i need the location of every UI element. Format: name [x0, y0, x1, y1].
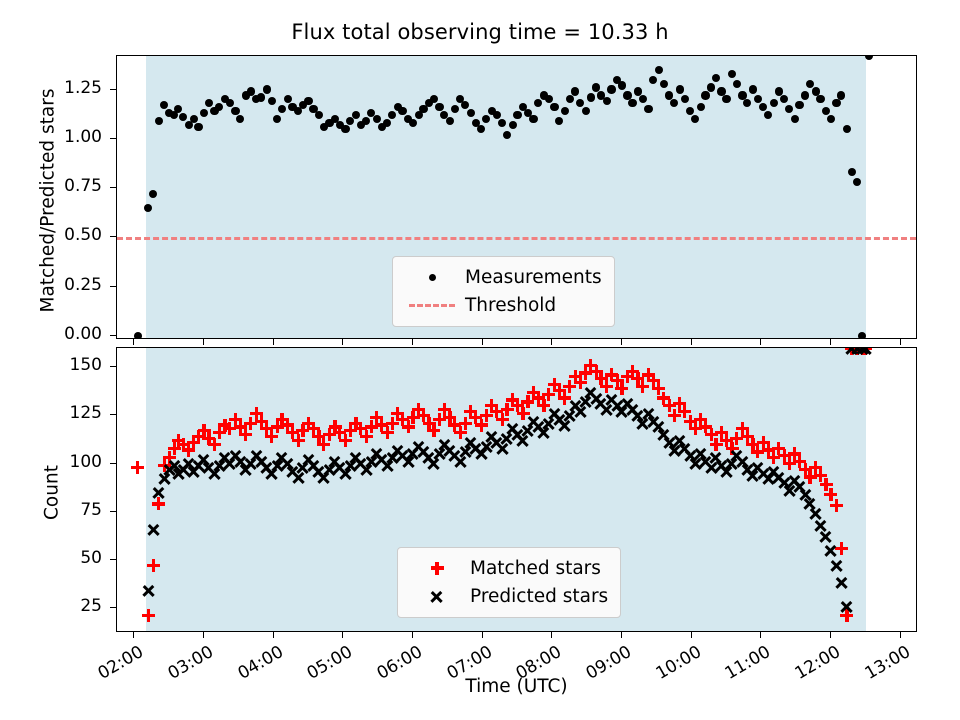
data-point [146, 522, 161, 537]
x-tick-mark [551, 339, 552, 345]
data-point [130, 460, 145, 475]
data-point [701, 91, 709, 99]
data-point [141, 608, 156, 623]
y-tick-label: 50 [42, 550, 102, 567]
x-tick-mark [203, 632, 204, 638]
data-point [503, 131, 511, 139]
y-tick-mark [110, 414, 116, 415]
data-point [194, 123, 202, 131]
legend-label-threshold: Threshold [459, 295, 556, 316]
data-point [707, 83, 715, 91]
y-tick-label: 0.75 [42, 178, 102, 195]
x-tick-mark [830, 632, 831, 638]
y-tick-mark [110, 366, 116, 367]
data-point [816, 95, 824, 103]
y-tick-label: 0.50 [42, 227, 102, 244]
y-tick-mark [110, 286, 116, 287]
data-point [839, 599, 854, 614]
y-tick-label: 0.25 [42, 277, 102, 294]
data-point [341, 125, 349, 133]
data-point [373, 115, 381, 123]
x-tick-mark [830, 339, 831, 345]
dashed-line-icon [405, 304, 459, 307]
data-point [806, 80, 814, 88]
y-tick-mark [110, 335, 116, 336]
y-tick-label: 150 [42, 357, 102, 374]
data-point [134, 332, 142, 339]
y-tick-mark [110, 89, 116, 90]
x-tick-mark [900, 632, 901, 638]
data-point [843, 125, 851, 133]
data-point [865, 55, 873, 60]
legend-label-matched: Matched stars [464, 558, 601, 579]
data-point [628, 99, 636, 107]
y-tick-label: 1.25 [42, 80, 102, 97]
top-panel-legend: Measurements Threshold [392, 256, 615, 327]
x-tick-mark [691, 632, 692, 638]
x-tick-mark [621, 632, 622, 638]
data-point [712, 74, 720, 82]
figure: Flux total observing time = 10.33 h Matc… [0, 0, 960, 720]
data-point [571, 87, 579, 95]
x-tick-mark [760, 339, 761, 345]
data-point [801, 91, 809, 99]
x-tick-mark [412, 632, 413, 638]
x-tick-mark [273, 632, 274, 638]
data-point [722, 95, 730, 103]
y-tick-label: 100 [42, 454, 102, 471]
data-point [146, 558, 161, 573]
data-point [823, 543, 838, 558]
x-tick-mark [482, 632, 483, 638]
data-point [676, 85, 684, 93]
x-tick-mark [412, 339, 413, 345]
figure-title: Flux total observing time = 10.33 h [0, 20, 960, 44]
legend-label-measurements: Measurements [459, 267, 602, 288]
data-point [513, 111, 521, 119]
data-point [190, 115, 198, 123]
data-point [493, 111, 501, 119]
plus-marker-icon [410, 561, 464, 576]
dot-marker-icon [405, 274, 459, 281]
x-tick-mark [342, 339, 343, 345]
data-point [607, 85, 615, 93]
data-point [155, 117, 163, 125]
y-tick-mark [110, 607, 116, 608]
y-tick-mark [110, 236, 116, 237]
data-point [398, 107, 406, 115]
x-tick-mark [482, 339, 483, 345]
x-tick-mark [551, 632, 552, 638]
x-tick-mark [900, 339, 901, 345]
threshold-line [117, 237, 916, 240]
data-point [660, 80, 668, 88]
data-point [257, 93, 265, 101]
data-point [728, 70, 736, 78]
y-tick-label: 1.00 [42, 129, 102, 146]
data-point [587, 93, 595, 101]
y-tick-label: 125 [42, 405, 102, 422]
legend-item-threshold: Threshold [405, 291, 602, 319]
data-point [858, 347, 873, 356]
y-tick-label: 0.00 [42, 326, 102, 343]
legend-item-predicted: Predicted stars [410, 582, 608, 610]
data-point [529, 115, 537, 123]
bottom-panel-legend: Matched stars Predicted stars [397, 547, 621, 618]
y-tick-mark [110, 187, 116, 188]
data-point [655, 66, 663, 74]
data-point [550, 103, 558, 111]
x-tick-mark [133, 632, 134, 638]
data-point [749, 85, 757, 93]
legend-label-predicted: Predicted stars [464, 586, 608, 607]
x-tick-mark [760, 632, 761, 638]
data-point [832, 99, 840, 107]
data-point [618, 81, 626, 89]
bottom-panel-ylabel: Count [42, 433, 63, 553]
x-tick-mark [342, 632, 343, 638]
data-point [644, 105, 652, 113]
cross-marker-icon [410, 589, 464, 604]
y-tick-label: 25 [42, 598, 102, 615]
x-tick-mark [133, 339, 134, 345]
data-point [858, 332, 866, 339]
x-tick-mark [621, 339, 622, 345]
legend-item-measurements: Measurements [405, 263, 602, 291]
data-point [263, 85, 271, 93]
y-tick-mark [110, 559, 116, 560]
data-point [829, 558, 844, 573]
y-tick-mark [110, 138, 116, 139]
data-point [795, 101, 803, 109]
data-point [733, 80, 741, 88]
data-point [837, 91, 845, 99]
legend-item-matched: Matched stars [410, 554, 608, 582]
x-tick-mark [691, 339, 692, 345]
x-tick-mark [273, 339, 274, 345]
data-point [151, 485, 166, 500]
data-point [791, 115, 799, 123]
data-point [141, 583, 156, 598]
y-tick-label: 75 [42, 502, 102, 519]
x-tick-mark [203, 339, 204, 345]
data-point [509, 121, 517, 129]
data-point [829, 498, 844, 513]
y-tick-mark [110, 463, 116, 464]
y-tick-mark [110, 511, 116, 512]
data-point [834, 575, 849, 590]
